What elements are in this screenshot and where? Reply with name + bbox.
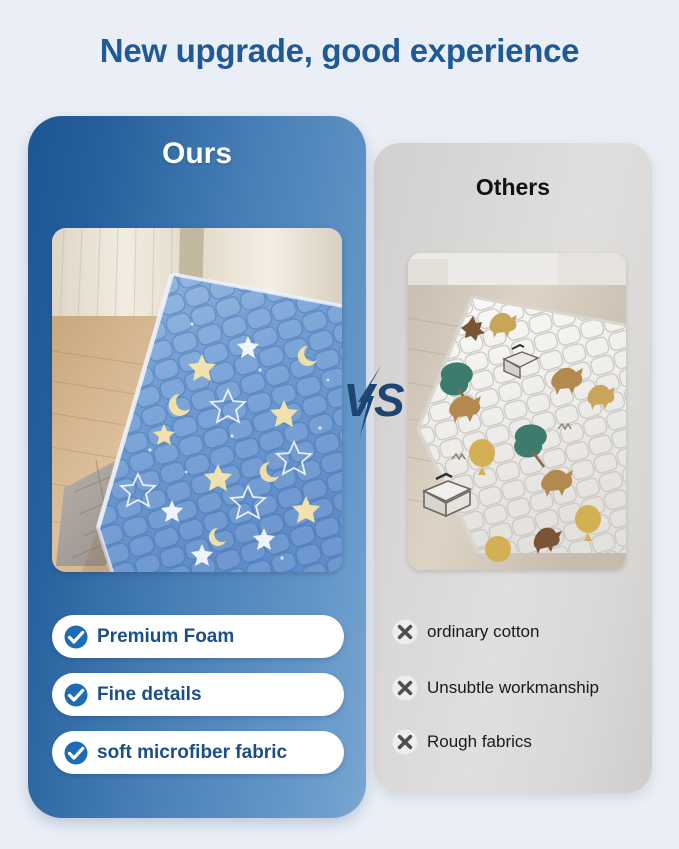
drawback-item-label: Unsubtle workmanship [427,678,599,698]
feature-pill-label: Fine details [97,684,202,706]
drawback-item-ordinary-cotton: ordinary cotton [392,616,539,648]
feature-pill-soft-microfiber-fabric[interactable]: soft microfiber fabric [52,731,344,774]
others-product-image [408,253,626,570]
ours-product-image [52,228,342,572]
x-circle-icon [392,619,418,645]
drawback-item-unsubtle-workmanship: Unsubtle workmanship [392,672,599,704]
feature-pill-fine-details[interactable]: Fine details [52,673,344,716]
x-circle-icon [392,729,418,755]
drawback-item-label: ordinary cotton [427,622,539,642]
feature-pill-label: Premium Foam [97,626,234,648]
vs-label: VS [343,374,405,426]
feature-pill-premium-foam[interactable]: Premium Foam [52,615,344,658]
feature-pill-label: soft microfiber fabric [97,742,287,764]
check-circle-icon [61,622,91,652]
drawback-item-label: Rough fabrics [427,732,532,752]
check-circle-icon [61,738,91,768]
x-circle-icon [392,675,418,701]
comparison-panels: Ours Others [0,0,679,849]
vs-badge: VS [338,362,410,438]
ours-panel-title: Ours [28,137,366,171]
check-circle-icon [61,680,91,710]
drawback-item-rough-fabrics: Rough fabrics [392,726,532,758]
others-panel-title: Others [374,174,652,201]
